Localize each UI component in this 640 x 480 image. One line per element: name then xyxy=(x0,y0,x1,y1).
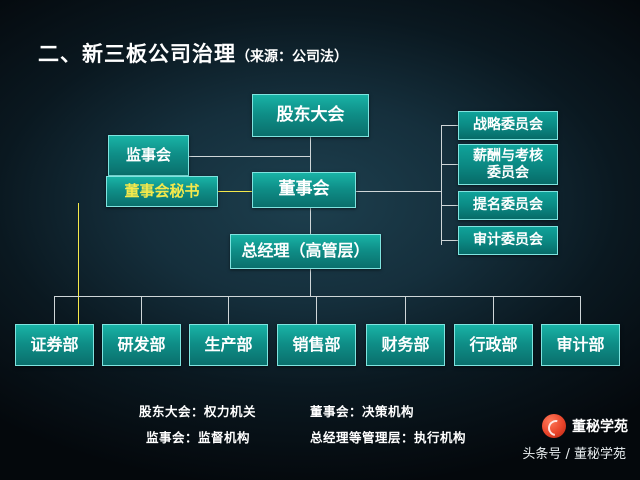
line-committee-nomination xyxy=(441,205,458,206)
node-strategy-committee[interactable]: 战略委员会 xyxy=(458,111,558,140)
node-nomination-committee[interactable]: 提名委员会 xyxy=(458,191,558,220)
page-title: 二、新三板公司治理（来源：公司法） xyxy=(38,38,348,68)
node-shareholders-meeting-label: 股东大会 xyxy=(277,106,345,126)
node-board-of-directors-label: 董事会 xyxy=(279,180,330,200)
line-board-to-committee-bus xyxy=(355,191,441,192)
account-handle: 头条号 / 董秘学苑 xyxy=(522,443,626,462)
node-board-secretary-label: 董事会秘书 xyxy=(124,183,199,200)
node-supervisory-board[interactable]: 监事会 xyxy=(108,135,189,176)
node-audit-committee[interactable]: 审计委员会 xyxy=(458,226,558,255)
legend-line2-right: 总经理等管理层：执行机构 xyxy=(310,427,466,446)
legend-line1-left: 股东大会：权力机关 xyxy=(139,401,256,420)
diagram-page: 二、新三板公司治理（来源：公司法） 股东大会 监事会 董事会 董事会秘书 总经理… xyxy=(0,0,640,480)
node-department-production[interactable]: 生产部 xyxy=(189,324,268,366)
line-dept-bus xyxy=(54,296,580,297)
node-general-manager-label: 总经理（高管层） xyxy=(241,242,369,260)
line-dept-production xyxy=(228,296,229,324)
account-name: 董秘学苑 xyxy=(572,416,628,436)
node-department-rd-label: 研发部 xyxy=(117,336,165,354)
node-department-audit[interactable]: 审计部 xyxy=(541,324,620,366)
node-compensation-committee-label-line1: 薪酬与考核 xyxy=(473,148,543,164)
node-department-securities[interactable]: 证券部 xyxy=(15,324,94,366)
line-gm-to-dept-bus xyxy=(310,268,311,296)
node-department-admin-label: 行政部 xyxy=(469,336,517,354)
node-department-audit-label: 审计部 xyxy=(556,336,604,354)
node-department-sales[interactable]: 销售部 xyxy=(277,324,356,366)
node-board-secretary[interactable]: 董事会秘书 xyxy=(106,176,218,207)
node-strategy-committee-label: 战略委员会 xyxy=(473,117,543,133)
node-nomination-committee-label: 提名委员会 xyxy=(473,197,543,213)
node-department-finance-label: 财务部 xyxy=(381,336,429,354)
node-audit-committee-label: 审计委员会 xyxy=(473,232,543,248)
node-department-sales-label: 销售部 xyxy=(292,336,340,354)
line-dept-audit xyxy=(580,296,581,324)
node-supervisory-board-label: 监事会 xyxy=(126,147,171,164)
node-department-rd[interactable]: 研发部 xyxy=(102,324,181,366)
page-title-main: 二、新三板公司治理 xyxy=(38,42,236,66)
line-shareholders-to-board xyxy=(310,137,311,175)
line-secretary-rail-vertical xyxy=(78,203,79,325)
line-board-to-gm xyxy=(310,207,311,234)
page-title-source: （来源：公司法） xyxy=(236,49,348,65)
line-dept-rd xyxy=(141,296,142,324)
line-committee-audit xyxy=(441,240,458,241)
node-compensation-committee[interactable]: 薪酬与考核 委员会 xyxy=(458,144,558,185)
legend-line2-left: 监事会：监督机构 xyxy=(146,427,250,446)
line-dept-finance xyxy=(405,296,406,324)
line-dept-sales xyxy=(316,296,317,324)
node-compensation-committee-label-line2: 委员会 xyxy=(487,165,529,181)
node-department-finance[interactable]: 财务部 xyxy=(366,324,445,366)
line-committee-strategy xyxy=(441,125,458,126)
line-dept-securities xyxy=(54,296,55,324)
node-shareholders-meeting[interactable]: 股东大会 xyxy=(252,94,369,137)
node-department-admin[interactable]: 行政部 xyxy=(454,324,533,366)
node-general-manager[interactable]: 总经理（高管层） xyxy=(230,234,381,269)
node-board-of-directors[interactable]: 董事会 xyxy=(252,172,356,208)
legend-line1-right: 董事会：决策机构 xyxy=(310,401,414,420)
line-supervisory-to-trunk xyxy=(188,156,310,157)
line-committee-compensation xyxy=(441,164,458,165)
line-committee-bus xyxy=(441,125,442,245)
toutiao-logo-icon xyxy=(542,414,566,438)
node-department-production-label: 生产部 xyxy=(204,336,252,354)
node-department-securities-label: 证券部 xyxy=(30,336,78,354)
account-badge: 董秘学苑 xyxy=(542,414,628,438)
line-dept-admin xyxy=(493,296,494,324)
